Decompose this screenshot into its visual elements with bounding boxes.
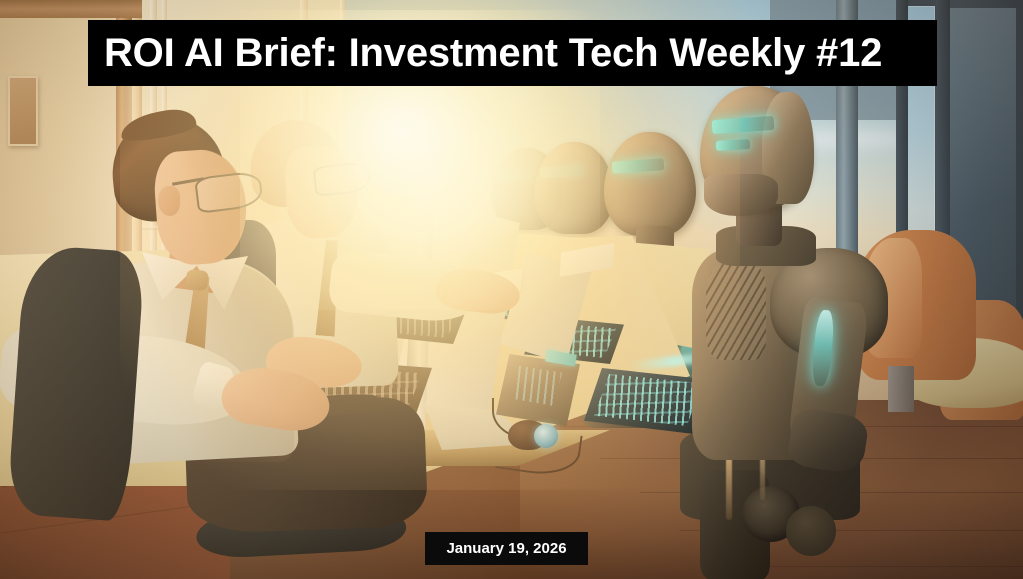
date-badge: January 19, 2026 [425,532,588,565]
robot-knee-joint [786,506,836,556]
robot-chest-detail [706,264,766,360]
robot-head [534,142,614,234]
title-banner: ROI AI Brief: Investment Tech Weekly #12 [88,20,937,86]
illustration-canvas: ROI AI Brief: Investment Tech Weekly #12… [0,0,1023,579]
date-label: January 19, 2026 [446,540,566,557]
framed-picture [8,76,38,146]
ceiling-beam [0,0,142,18]
necktie-knot [185,269,209,291]
robot-head [604,132,696,236]
robot-visor-secondary [716,139,750,151]
robot-jaw [704,174,778,216]
chair-base [888,366,914,412]
page-title: ROI AI Brief: Investment Tech Weekly #12 [104,33,882,73]
office-chair-back [7,244,146,522]
glowing-puck[interactable] [534,424,558,448]
ear [158,186,180,216]
